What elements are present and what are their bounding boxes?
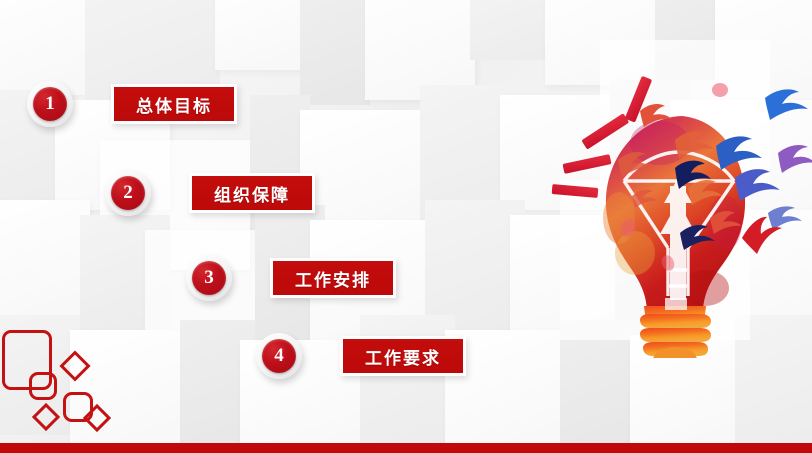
agenda-item-2[interactable]: 2 组织保障: [105, 170, 315, 216]
agenda-label-bar-1[interactable]: 总体目标: [111, 84, 237, 124]
agenda-number-badge-2[interactable]: 2: [105, 170, 151, 216]
agenda-number-badge-1[interactable]: 1: [27, 81, 73, 127]
agenda-label-bar-4[interactable]: 工作要求: [340, 336, 466, 376]
agenda-item-1[interactable]: 1 总体目标: [27, 81, 237, 127]
slide-canvas: 1 总体目标 2 组织保障 3 工作安排 4 工作要求: [0, 0, 812, 453]
agenda-number-1: 1: [45, 94, 55, 114]
agenda-item-3[interactable]: 3 工作安排: [186, 255, 396, 301]
bg-square: [0, 200, 90, 320]
bg-square: [300, 0, 370, 105]
agenda-label-4: 工作要求: [349, 344, 457, 369]
agenda-label-bar-2[interactable]: 组织保障: [189, 173, 315, 213]
agenda-label-bar-3[interactable]: 工作安排: [270, 258, 396, 298]
agenda-number-4: 4: [274, 346, 284, 366]
agenda-number-badge-3[interactable]: 3: [186, 255, 232, 301]
agenda-number-2: 2: [123, 183, 133, 203]
bg-square: [70, 330, 190, 445]
agenda-number-badge-4[interactable]: 4: [256, 333, 302, 379]
agenda-label-3: 工作安排: [279, 266, 387, 291]
bulb-base: [640, 298, 711, 358]
bg-square: [215, 0, 310, 70]
deco-rounded-square-small: [29, 372, 57, 400]
agenda-number-3: 3: [204, 268, 214, 288]
agenda-item-4[interactable]: 4 工作要求: [256, 333, 466, 379]
footer-red-bar: [0, 443, 812, 453]
lightbulb-artwork: [520, 48, 812, 358]
agenda-label-2: 组织保障: [198, 181, 306, 206]
agenda-label-1: 总体目标: [120, 92, 228, 117]
